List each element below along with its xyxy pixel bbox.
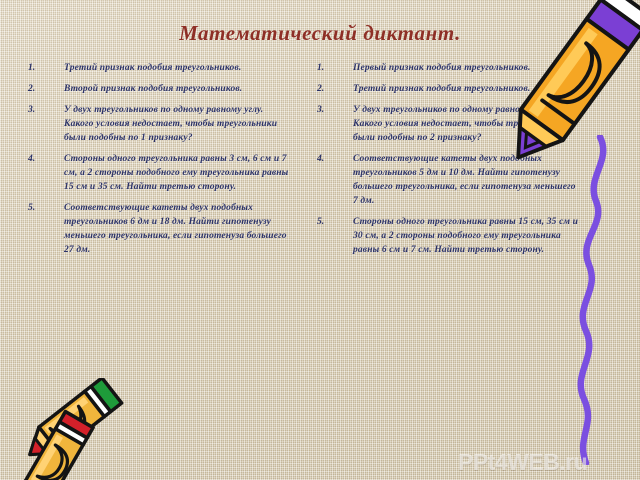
list-item-number: 1. bbox=[26, 61, 64, 75]
list-item: 5. Соответствующие катеты двух подобных … bbox=[26, 201, 294, 257]
list-item: 1. Первый признак подобия треугольников. bbox=[315, 61, 583, 75]
list-item-number: 4. bbox=[315, 152, 353, 166]
list-item-text: У двух треугольников по одному равному у… bbox=[64, 103, 294, 145]
list-item: 4. Соответствующие катеты двух подобных … bbox=[315, 152, 583, 208]
list-item-number: 1. bbox=[315, 61, 353, 75]
page-title: Математический диктант. bbox=[0, 21, 640, 46]
list-item-text: Третий признак подобия треугольников. bbox=[353, 82, 583, 96]
slide-canvas: Математический диктант. 1. Третий призна… bbox=[0, 0, 640, 480]
list-item: 4. Стороны одного треугольника равны 3 с… bbox=[26, 152, 294, 194]
list-item: 1. Третий признак подобия треугольников. bbox=[26, 61, 294, 75]
list-item-text: Соответствующие катеты двух подобных тре… bbox=[353, 152, 583, 208]
list-item-text: Стороны одного треугольника равны 15 см,… bbox=[353, 215, 583, 257]
list-item-text: У двух треугольников по одному равному у… bbox=[353, 103, 583, 145]
list-item-text: Второй признак подобия треугольников. bbox=[64, 82, 294, 96]
list-item-number: 5. bbox=[315, 215, 353, 229]
list-item-number: 3. bbox=[315, 103, 353, 117]
list-item: 3. У двух треугольников по одному равном… bbox=[26, 103, 294, 145]
watermark: PPt4WEB.ru bbox=[458, 449, 587, 476]
list-item: 2. Третий признак подобия треугольников. bbox=[315, 82, 583, 96]
list-item-number: 5. bbox=[26, 201, 64, 215]
list-item: 2. Второй признак подобия треугольников. bbox=[26, 82, 294, 96]
list-item-number: 2. bbox=[315, 82, 353, 96]
list-item-text: Первый признак подобия треугольников. bbox=[353, 61, 583, 75]
question-column-right: 1. Первый признак подобия треугольников.… bbox=[315, 61, 583, 264]
list-item-number: 3. bbox=[26, 103, 64, 117]
list-item-text: Стороны одного треугольника равны 3 см, … bbox=[64, 152, 294, 194]
list-item: 5. Стороны одного треугольника равны 15 … bbox=[315, 215, 583, 257]
list-item: 3. У двух треугольников по одному равном… bbox=[315, 103, 583, 145]
question-column-left: 1. Третий признак подобия треугольников.… bbox=[26, 61, 294, 264]
list-item-text: Соответствующие катеты двух подобных тре… bbox=[64, 201, 294, 257]
crossed-pencils-icon bbox=[2, 378, 182, 480]
list-item-text: Третий признак подобия треугольников. bbox=[64, 61, 294, 75]
list-item-number: 4. bbox=[26, 152, 64, 166]
list-item-number: 2. bbox=[26, 82, 64, 96]
